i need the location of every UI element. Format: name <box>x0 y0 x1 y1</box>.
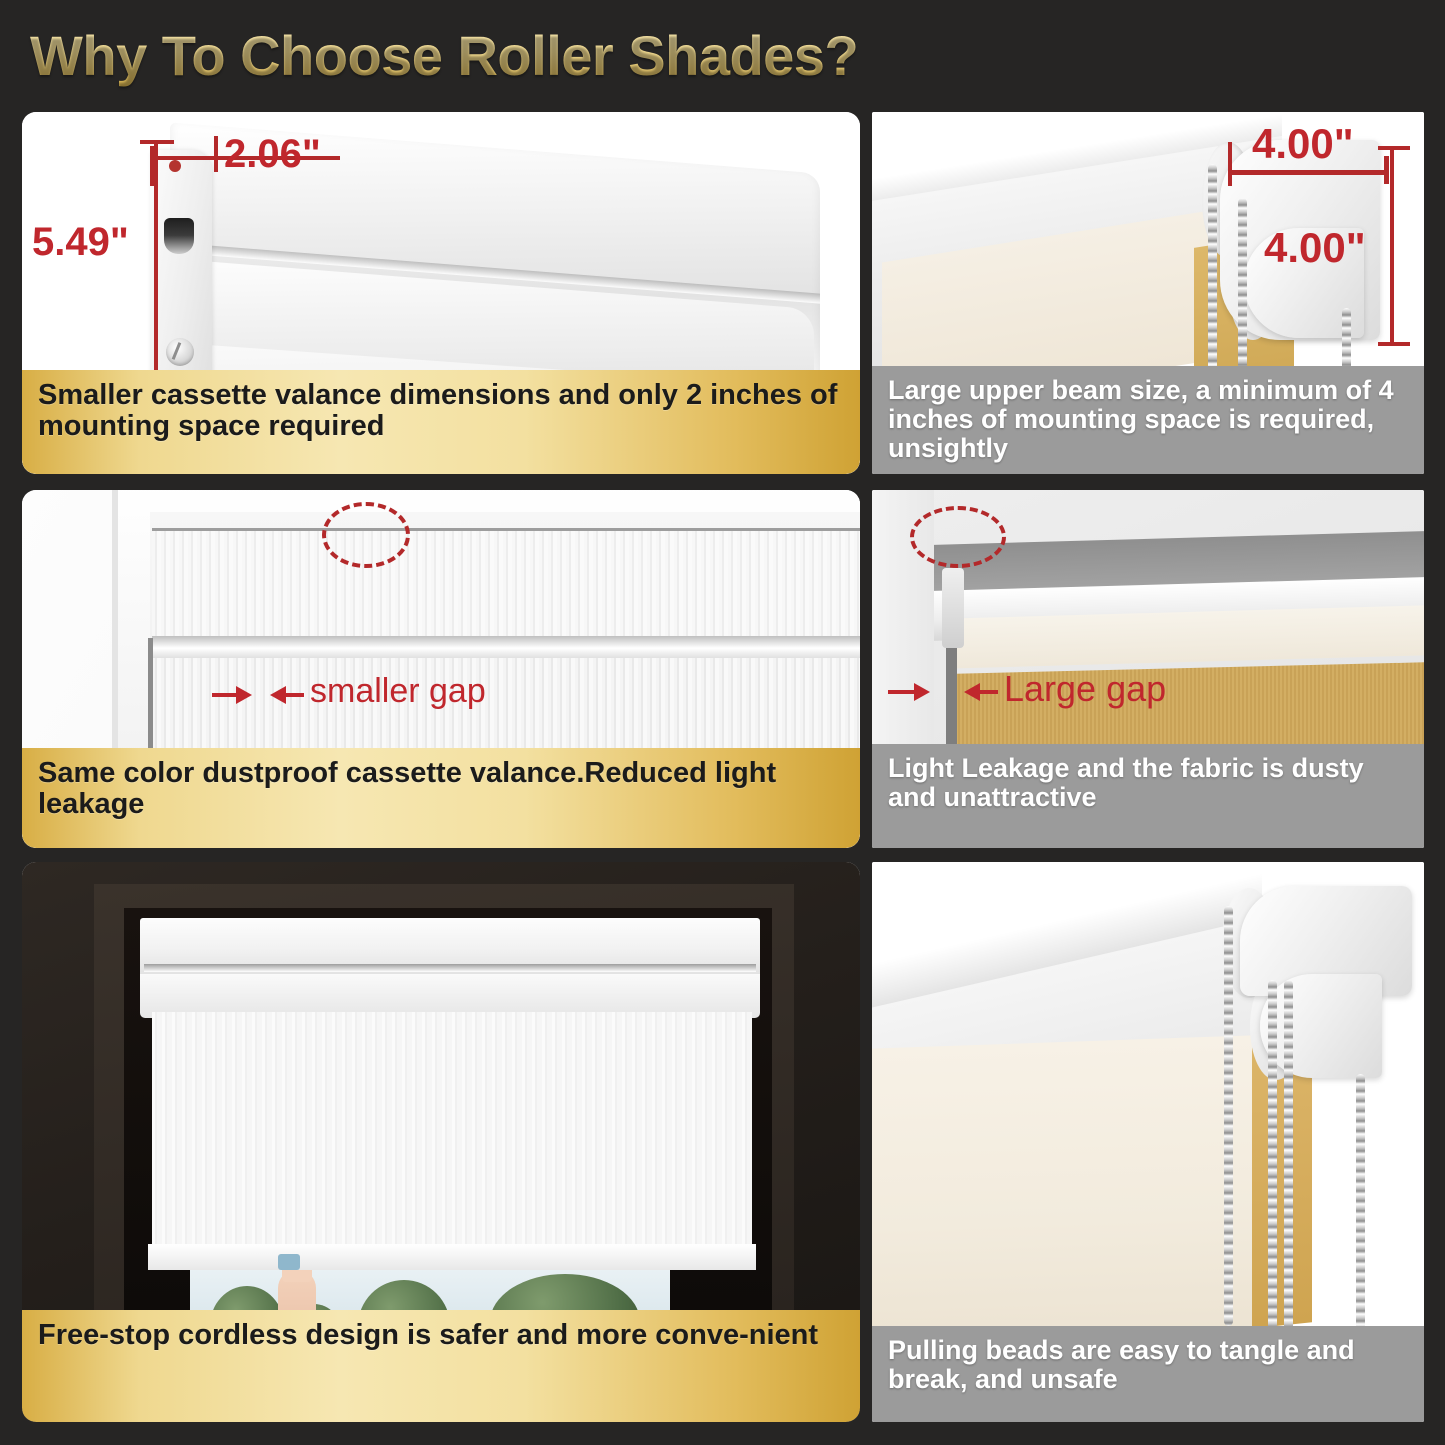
bead-chain-mid <box>1268 980 1277 1330</box>
bead-chain-mid-2 <box>1284 980 1293 1330</box>
gap-arrow-right-stem <box>980 690 998 694</box>
width-dimension-label: 2.06" <box>224 132 321 177</box>
panel-cordless-design: Free-stop cordless design is safer and m… <box>22 862 860 1422</box>
beam-height-label: 4.00" <box>1264 224 1366 272</box>
gap-arrow-left-head-icon <box>914 683 930 701</box>
small-gap-shadow <box>148 638 153 756</box>
valance-lip <box>152 636 860 658</box>
top-width-right-tick <box>1384 156 1389 184</box>
endcap-screw-icon <box>166 338 194 366</box>
panel-3-caption: Same color dustproof cassette valance.Re… <box>22 748 860 848</box>
beam-height-bottom-tick <box>1378 342 1410 346</box>
cassette-valance <box>140 918 760 982</box>
smaller-gap-label: smaller gap <box>310 672 486 711</box>
beam-width-label: 4.00" <box>1252 120 1354 168</box>
competitor-shade-panel <box>872 1035 1252 1348</box>
gap-arrow-left-head-icon <box>236 686 252 704</box>
endcap-slot-icon <box>164 218 194 254</box>
cassette-valance-face <box>152 528 860 636</box>
panel-smaller-cassette: 2.06" 5.49" Smaller cassette valance dim… <box>22 112 860 474</box>
panel-1-caption: Smaller cassette valance dimensions and … <box>22 370 860 474</box>
panel-4-caption: Light Leakage and the fabric is dusty an… <box>872 744 1424 848</box>
panel-pulling-beads: Pulling beads are easy to tangle and bre… <box>872 862 1424 1422</box>
bead-chain-left <box>1208 164 1217 374</box>
bead-chain-mid <box>1238 198 1247 378</box>
panel-6-caption: Pulling beads are easy to tangle and bre… <box>872 1326 1424 1422</box>
panel-5-caption: Free-stop cordless design is safer and m… <box>22 1310 860 1422</box>
gap-arrow-right-head-icon <box>270 686 286 704</box>
panel-large-upper-beam: 4.00" 4.00" Large upper beam size, a min… <box>872 112 1424 474</box>
page-title: Why To Choose Roller Shades? <box>30 20 1030 92</box>
highlight-ellipse-icon <box>322 502 410 568</box>
bracket-hook <box>942 568 964 648</box>
beam-height-dim-line <box>1390 146 1394 346</box>
infographic-root: Why To Choose Roller Shades? 2.06" 5.49"… <box>0 0 1445 1445</box>
mounting-bracket-lower <box>1260 974 1382 1078</box>
bottom-rail <box>148 1244 756 1270</box>
gap-arrow-right-head-icon <box>964 683 980 701</box>
panel-2-caption: Large upper beam size, a minimum of 4 in… <box>872 366 1424 474</box>
top-width-dim-line <box>1228 170 1388 175</box>
panel-light-leakage: Large gap Light Leakage and the fabric i… <box>872 490 1424 848</box>
roller-shade-fabric <box>152 1012 752 1252</box>
bead-chain-left <box>1224 906 1233 1326</box>
width-dim-right-tick <box>214 136 218 172</box>
endcap-red-marker <box>169 160 181 172</box>
panel-dustproof-valance: smaller gap Same color dustproof cassett… <box>22 490 860 848</box>
height-dim-top-tick <box>140 140 174 144</box>
large-gap-label: Large gap <box>1004 668 1166 710</box>
bead-chain-right <box>1356 1074 1365 1330</box>
beam-height-top-tick <box>1378 146 1410 150</box>
height-dimension-label: 5.49" <box>32 220 129 265</box>
gap-arrow-right-stem <box>286 693 304 697</box>
gap-arrow-left-stem <box>888 690 914 694</box>
highlight-ellipse-icon <box>910 506 1006 568</box>
top-width-left-tick <box>1228 142 1232 186</box>
gap-arrow-left-stem <box>212 693 236 697</box>
pull-tab-handle <box>278 1254 300 1270</box>
